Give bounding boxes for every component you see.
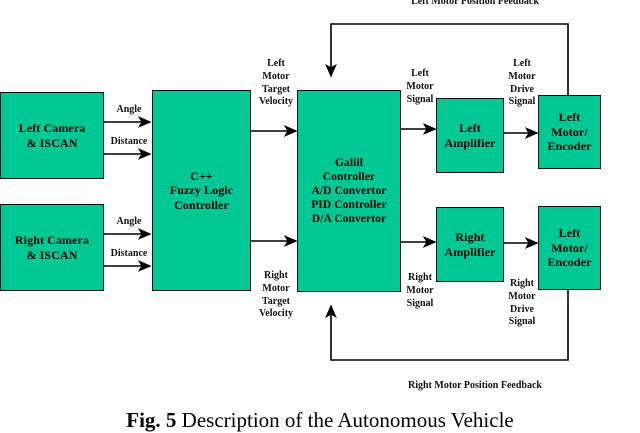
label-right-motor-target-velocity: Right Motor Target Velocity	[248, 270, 304, 321]
block-right-camera-line1: Right Camera	[15, 233, 89, 248]
block-left-camera-line1: Left Camera	[19, 121, 86, 136]
block-right-amplifier-line2: Amplifier	[445, 245, 496, 260]
block-galil-line1: Galiil	[335, 156, 363, 170]
label-right-motor-drive-signal: Right Motor Drive Signal	[500, 278, 544, 329]
block-fuzzy-line1: C++	[190, 169, 213, 184]
block-left-amplifier[interactable]: Left Amplifier	[436, 98, 504, 173]
label-left-drive-l1: Left	[502, 58, 542, 71]
label-right-drive-l1: Right	[500, 278, 544, 291]
block-galil-controller[interactable]: Galiil Controller A/D Convertor PID Cont…	[297, 90, 401, 292]
block-left-amplifier-line1: Left	[459, 121, 481, 136]
block-left-amplifier-line2: Amplifier	[445, 136, 496, 151]
label-right-target-l1: Right	[248, 270, 304, 283]
block-right-motor-line1: Left	[559, 226, 581, 241]
block-right-motor-encoder[interactable]: Left Motor/ Encoder	[538, 206, 601, 290]
label-left-angle: Angle	[108, 104, 150, 117]
label-right-motor-signal-l3: Signal	[399, 298, 441, 311]
label-left-motor-signal-l2: Motor	[401, 81, 439, 94]
label-left-drive-l4: Signal	[502, 96, 542, 109]
figure-caption: Fig. 5 Description of the Autonomous Veh…	[0, 408, 640, 433]
block-right-camera[interactable]: Right Camera & ISCAN	[0, 204, 104, 291]
block-right-amplifier-line1: Right	[455, 230, 484, 245]
block-galil-line3: A/D Convertor	[311, 184, 386, 198]
label-right-motor-signal: Right Motor Signal	[399, 272, 441, 310]
block-left-motor-line3: Encoder	[547, 139, 591, 154]
label-right-drive-l2: Motor	[500, 291, 544, 304]
label-left-motor-signal: Left Motor Signal	[401, 68, 439, 106]
label-right-distance: Distance	[104, 248, 154, 261]
block-fuzzy-logic-controller[interactable]: C++ Fuzzy Logic Controller	[152, 90, 251, 291]
label-right-target-l2: Motor	[248, 283, 304, 296]
label-right-angle: Angle	[108, 216, 150, 229]
label-right-motor-position-feedback: Right Motor Position Feedback	[330, 380, 620, 393]
label-right-target-l3: Target	[248, 296, 304, 309]
block-right-motor-line2: Motor/	[551, 241, 588, 256]
block-left-motor-line1: Left	[559, 110, 581, 125]
label-right-drive-l4: Signal	[500, 316, 544, 329]
block-left-motor-line2: Motor/	[551, 125, 588, 140]
label-left-motor-target-velocity: Left Motor Target Velocity	[248, 58, 304, 109]
label-left-distance: Distance	[104, 136, 154, 149]
label-right-motor-signal-l2: Motor	[399, 285, 441, 298]
label-right-drive-l3: Drive	[500, 304, 544, 317]
label-left-target-l4: Velocity	[248, 96, 304, 109]
block-galil-line2: Controller	[323, 170, 376, 184]
block-left-camera[interactable]: Left Camera & ISCAN	[0, 92, 104, 179]
block-left-motor-encoder[interactable]: Left Motor/ Encoder	[538, 95, 601, 169]
label-right-motor-signal-l1: Right	[399, 272, 441, 285]
block-right-motor-line3: Encoder	[547, 255, 591, 270]
label-right-target-l4: Velocity	[248, 308, 304, 321]
label-left-target-l1: Left	[248, 58, 304, 71]
block-left-camera-line2: & ISCAN	[26, 136, 77, 151]
block-fuzzy-line2: Fuzzy Logic	[170, 183, 233, 198]
label-left-motor-signal-l3: Signal	[401, 94, 439, 107]
label-left-motor-signal-l1: Left	[401, 68, 439, 81]
label-left-drive-l2: Motor	[502, 71, 542, 84]
figure-caption-prefix: Fig. 5	[126, 408, 176, 432]
label-left-drive-l3: Drive	[502, 84, 542, 97]
block-right-camera-line2: & ISCAN	[26, 248, 77, 263]
block-fuzzy-line3: Controller	[174, 198, 229, 213]
block-right-amplifier[interactable]: Right Amplifier	[436, 207, 504, 282]
label-left-target-l3: Target	[248, 84, 304, 97]
label-left-motor-drive-signal: Left Motor Drive Signal	[502, 58, 542, 109]
block-diagram-canvas: Left Camera & ISCAN Right Camera & ISCAN…	[0, 0, 640, 429]
label-left-motor-position-feedback: Left Motor Position Feedback	[330, 0, 620, 9]
block-galil-line5: D/A Convertor	[312, 212, 386, 226]
figure-caption-text: Description of the Autonomous Vehicle	[182, 408, 514, 432]
label-left-target-l2: Motor	[248, 71, 304, 84]
block-galil-line4: PID Controller	[311, 198, 387, 212]
